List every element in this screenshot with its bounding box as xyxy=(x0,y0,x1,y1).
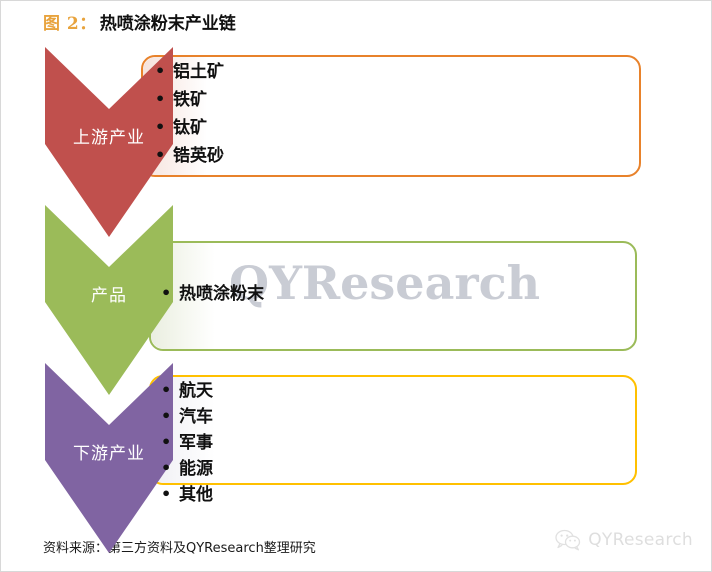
list-item: 能源 xyxy=(159,456,213,482)
list-item: 钛矿 xyxy=(153,114,224,142)
list-item: 铝土矿 xyxy=(153,58,224,86)
product-item-list: 热喷涂粉末 xyxy=(159,280,264,308)
downstream-item-list: 航天 汽车 军事 能源 其他 xyxy=(159,378,213,508)
brand-name: QYResearch xyxy=(588,530,693,550)
page-title: 热喷涂粉末产业链 xyxy=(100,14,236,34)
list-item: 军事 xyxy=(159,430,213,456)
list-item: 锆英砂 xyxy=(153,142,224,170)
downstream-items-box xyxy=(149,375,637,485)
brand-watermark: QYResearch xyxy=(555,529,693,551)
product-arrow-label: 产品 xyxy=(45,281,173,306)
list-item: 其他 xyxy=(159,482,213,508)
list-item: 航天 xyxy=(159,378,213,404)
downstream-chevron-arrow: 下游产业 xyxy=(45,363,173,553)
figure-canvas: 图 2：热喷涂粉末产业链 QYResearch 铝土矿 铁矿 钛矿 锆英砂 上游… xyxy=(0,0,712,572)
list-item: 热喷涂粉末 xyxy=(159,280,264,308)
list-item: 汽车 xyxy=(159,404,213,430)
wechat-icon xyxy=(555,529,581,551)
list-item: 铁矿 xyxy=(153,86,224,114)
downstream-arrow-label: 下游产业 xyxy=(45,439,173,464)
figure-number-label: 图 2： xyxy=(43,14,97,34)
upstream-item-list: 铝土矿 铁矿 钛矿 锆英砂 xyxy=(153,58,224,170)
figure-title-bar: 图 2：热喷涂粉末产业链 xyxy=(43,13,236,35)
